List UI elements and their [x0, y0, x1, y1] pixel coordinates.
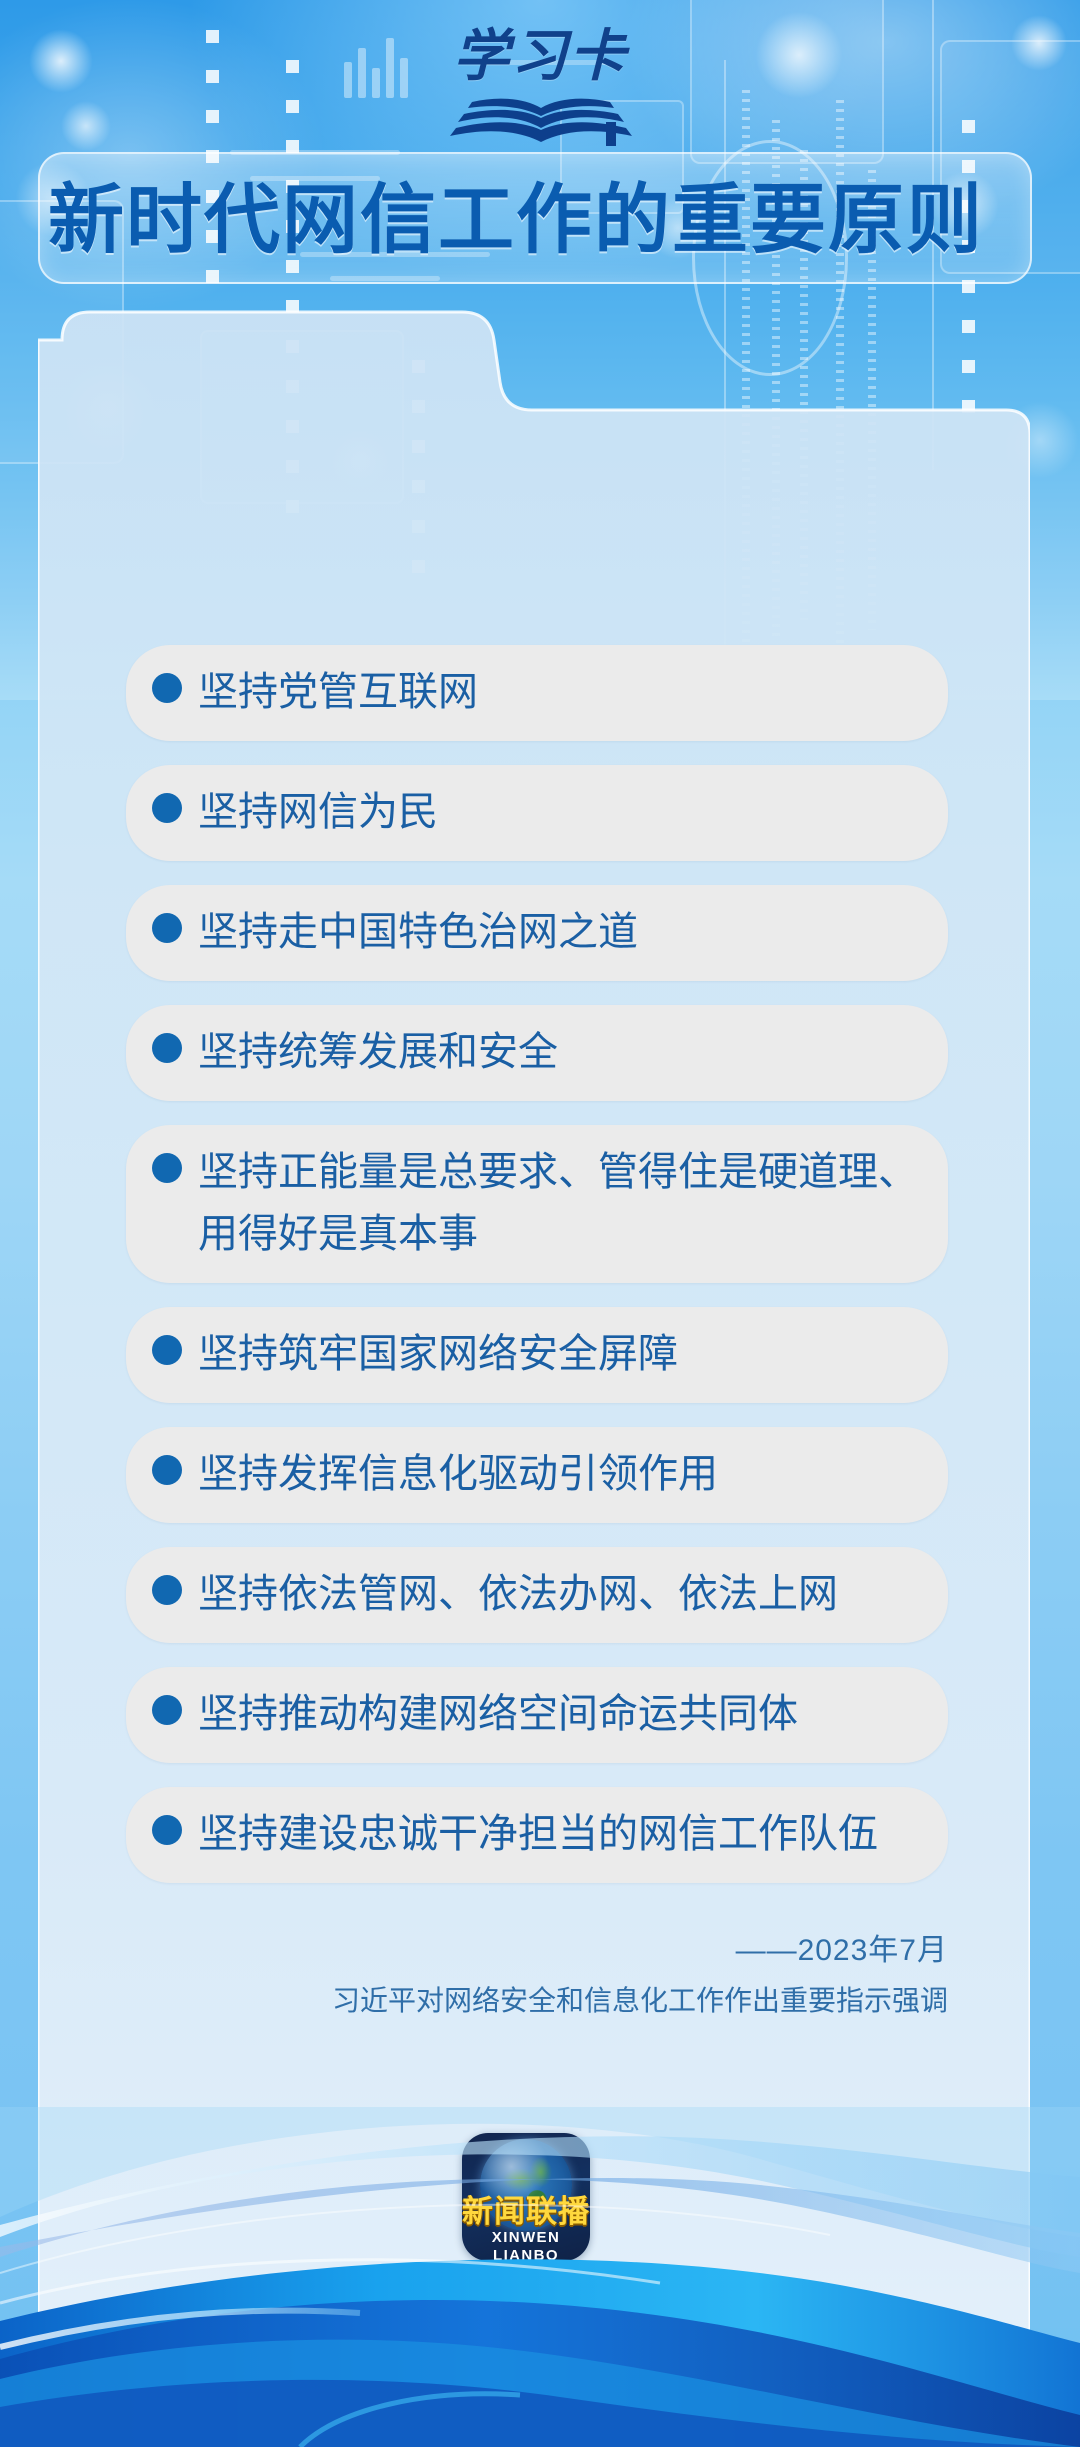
list-item[interactable]: 坚持统筹发展和安全	[126, 1005, 948, 1101]
bottom-wave-decoration	[0, 2107, 1080, 2447]
attribution: ——2023年7月 习近平对网络安全和信息化工作作出重要指示强调	[126, 1925, 948, 2025]
filled-circle-bullet-icon	[152, 1695, 182, 1725]
list-item[interactable]: 坚持建设忠诚干净担当的网信工作队伍	[126, 1787, 948, 1883]
list-item-label: 坚持网信为民	[198, 781, 438, 843]
list-item-label: 坚持统筹发展和安全	[198, 1021, 558, 1083]
list-item[interactable]: 坚持党管互联网	[126, 645, 948, 741]
filled-circle-bullet-icon	[152, 913, 182, 943]
filled-circle-bullet-icon	[152, 1153, 182, 1183]
attribution-date: ——2023年7月	[126, 1925, 948, 1977]
list-item-label: 坚持正能量是总要求、管得住是硬道理、用得好是真本事	[198, 1141, 922, 1265]
page-title: 新时代网信工作的重要原则	[48, 180, 1048, 262]
filled-circle-bullet-icon	[152, 1815, 182, 1845]
brand-logo: 学习卡	[0, 24, 1080, 154]
list-item-label: 坚持推动构建网络空间命运共同体	[198, 1683, 798, 1745]
filled-circle-bullet-icon	[152, 1455, 182, 1485]
list-item-label: 坚持建设忠诚干净担当的网信工作队伍	[198, 1803, 878, 1865]
filled-circle-bullet-icon	[152, 1033, 182, 1063]
list-item-label: 坚持依法管网、依法办网、依法上网	[198, 1563, 838, 1625]
filled-circle-bullet-icon	[152, 1335, 182, 1365]
list-item[interactable]: 坚持走中国特色治网之道	[126, 885, 948, 981]
list-item-label: 坚持发挥信息化驱动引领作用	[198, 1443, 718, 1505]
list-item-label: 坚持党管互联网	[198, 661, 478, 723]
list-item[interactable]: 坚持筑牢国家网络安全屏障	[126, 1307, 948, 1403]
list-item[interactable]: 坚持发挥信息化驱动引领作用	[126, 1427, 948, 1523]
attribution-source: 习近平对网络安全和信息化工作作出重要指示强调	[126, 1977, 948, 2025]
filled-circle-bullet-icon	[152, 673, 182, 703]
open-book-icon	[446, 86, 636, 148]
principles-list: 坚持党管互联网 坚持网信为民 坚持走中国特色治网之道 坚持统筹发展和安全 坚持正…	[126, 645, 948, 1907]
list-item[interactable]: 坚持依法管网、依法办网、依法上网	[126, 1547, 948, 1643]
list-item[interactable]: 坚持正能量是总要求、管得住是硬道理、用得好是真本事	[126, 1125, 948, 1283]
filled-circle-bullet-icon	[152, 793, 182, 823]
brand-logo-text: 学习卡	[420, 24, 660, 90]
list-item[interactable]: 坚持推动构建网络空间命运共同体	[126, 1667, 948, 1763]
poster-canvas: 学习卡 新时代网信工作的重要原则 坚持党	[0, 0, 1080, 2447]
filled-circle-bullet-icon	[152, 1575, 182, 1605]
list-item-label: 坚持筑牢国家网络安全屏障	[198, 1323, 678, 1385]
list-item[interactable]: 坚持网信为民	[126, 765, 948, 861]
list-item-label: 坚持走中国特色治网之道	[198, 901, 638, 963]
